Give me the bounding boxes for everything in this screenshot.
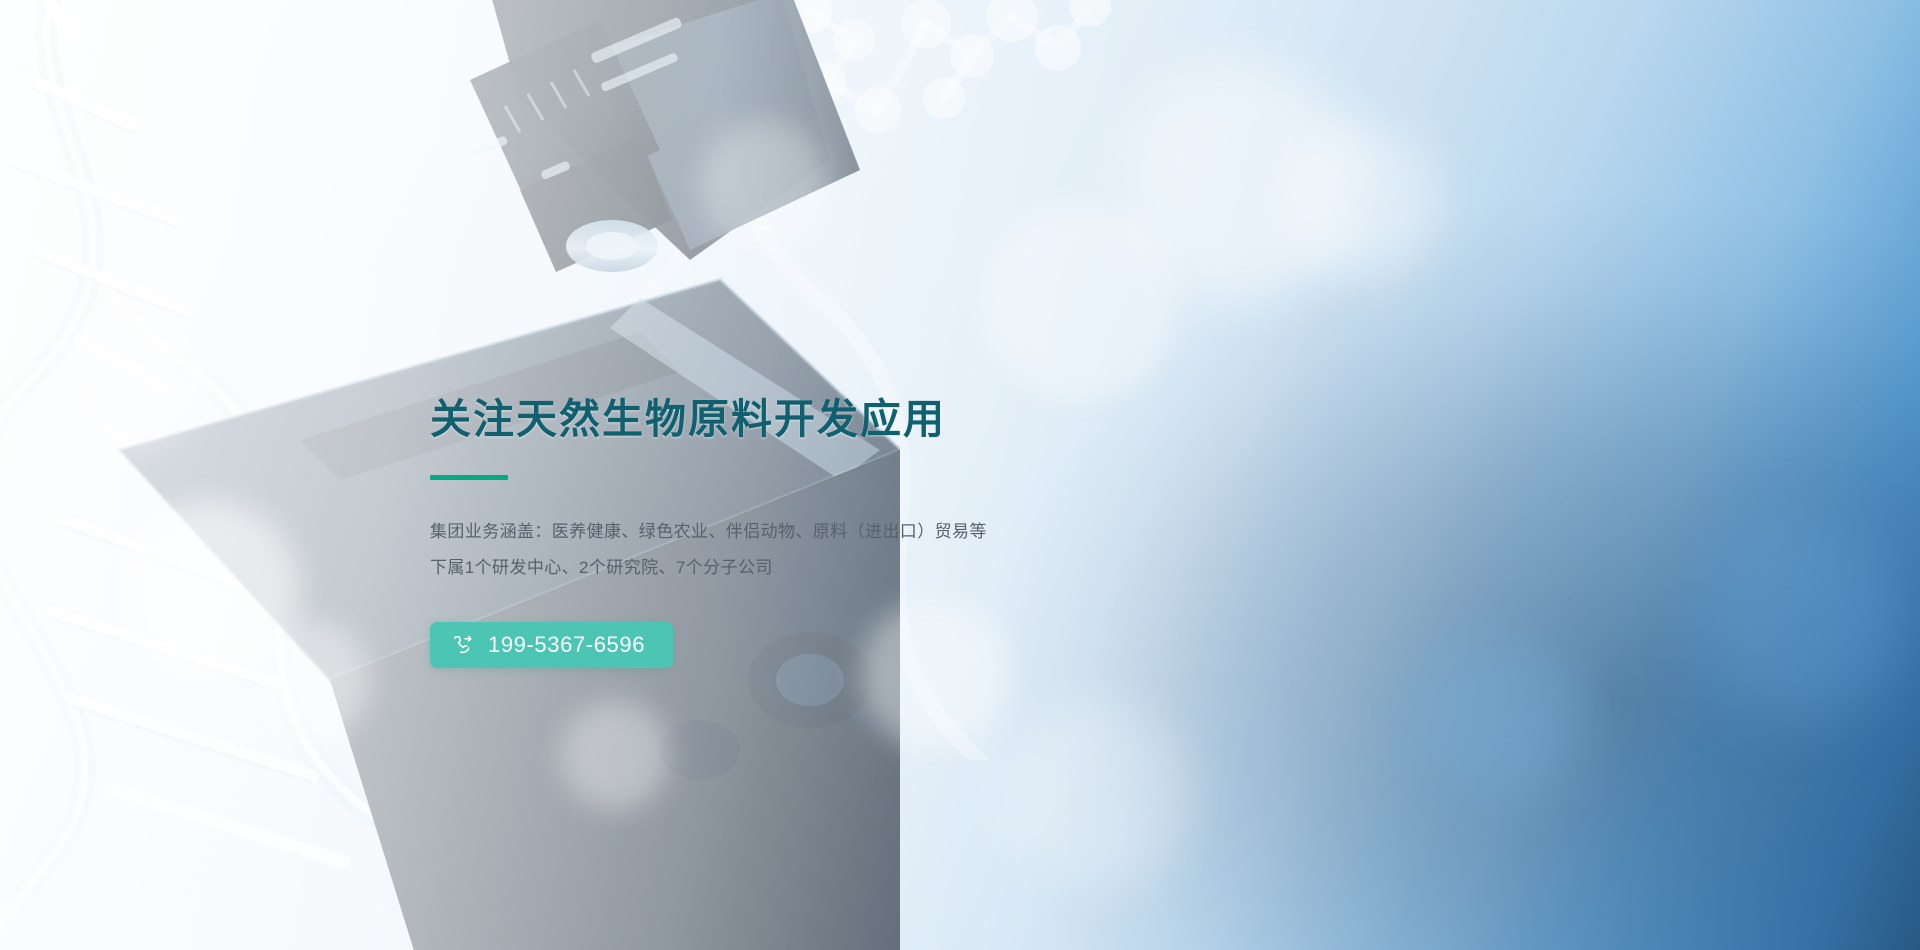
molecular-chain-icon (620, 0, 1180, 330)
hero-content: 关注天然生物原料开发应用 集团业务涵盖：医养健康、绿色农业、伴侣动物、原料（进出… (430, 396, 1190, 668)
phone-cta-button[interactable]: 199-5367-6596 (430, 622, 673, 668)
hero-description-line-1: 集团业务涵盖：医养健康、绿色农业、伴侣动物、原料（进出口）贸易等 (430, 514, 1190, 550)
phone-forward-icon (452, 634, 474, 656)
hero-headline: 关注天然生物原料开发应用 (430, 396, 1190, 443)
hero-banner: 关注天然生物原料开发应用 集团业务涵盖：医养健康、绿色农业、伴侣动物、原料（进出… (0, 0, 1920, 950)
hero-description: 集团业务涵盖：医养健康、绿色农业、伴侣动物、原料（进出口）贸易等 下属1个研发中… (430, 480, 1190, 586)
phone-number-label: 199-5367-6596 (488, 634, 645, 656)
hero-description-line-2: 下属1个研发中心、2个研究院、7个分子公司 (430, 550, 1190, 586)
